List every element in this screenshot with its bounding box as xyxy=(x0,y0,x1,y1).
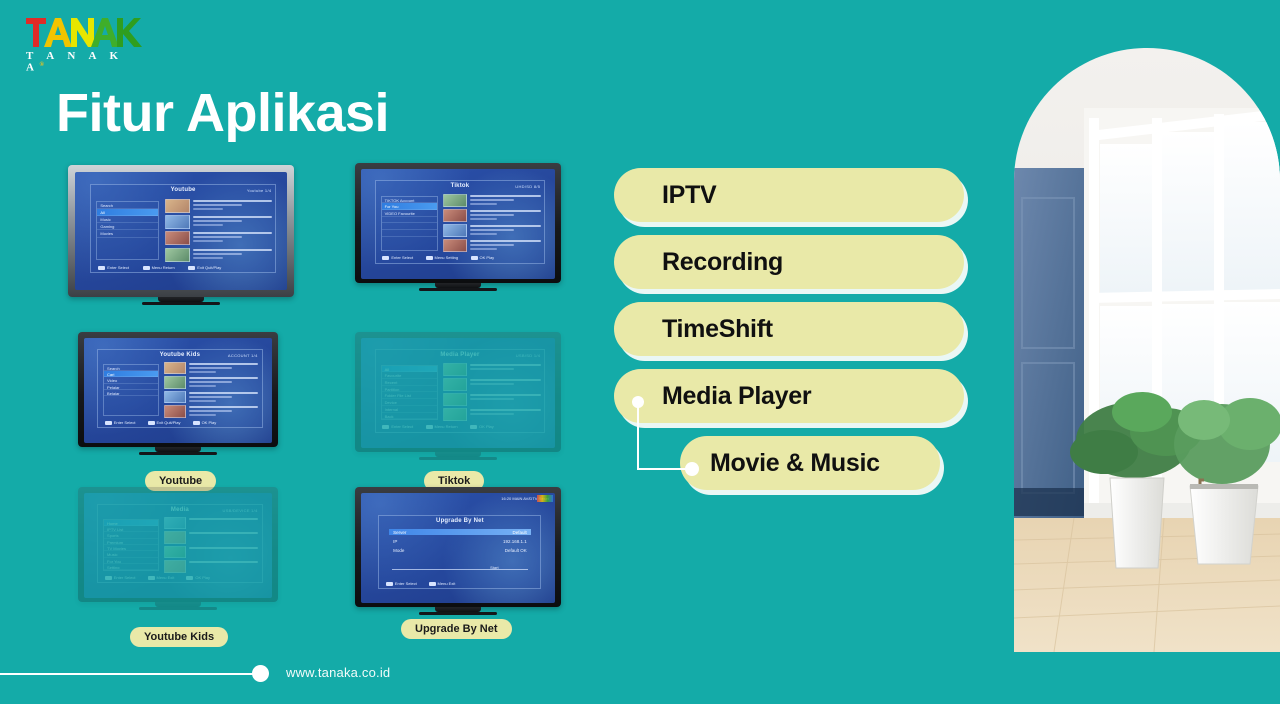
tv-ui-list-item xyxy=(443,224,541,237)
feature-pill-timeshift[interactable]: TimeShift xyxy=(614,302,964,356)
tv-ui-row-label: IP xyxy=(393,539,397,544)
tv-ui-footer-hint: Menu Exit xyxy=(438,581,456,586)
tv-ui-list-item xyxy=(443,209,541,222)
tv-ui-list-item xyxy=(443,363,541,376)
tv-ui-row: Mode Default OK xyxy=(389,548,531,554)
tv-ui-sidebar: TIKTOK Account For You VIDEO Favourite xyxy=(381,196,438,252)
tanaka-logo-icon xyxy=(24,14,142,50)
registered-mark-icon: ® xyxy=(39,62,43,68)
channel-logo-icon xyxy=(537,495,553,502)
screenshot-card-media-player[interactable]: Media Player USB/SD 1/4 All Favourite Re… xyxy=(355,332,561,460)
tv-ui-list-item xyxy=(165,231,272,245)
tv-ui-status: UHD/SD 8/5 xyxy=(515,184,540,189)
tv-ui-status: ACCOUNT 1/4 xyxy=(228,353,258,358)
tv-ui-sidebar-item: TIKTOK Account xyxy=(382,197,437,204)
thumbnail-icon xyxy=(443,194,466,207)
tv-ui-footer: Enter Select Menu Setting OK Play xyxy=(382,255,537,260)
thumbnail-icon xyxy=(443,408,466,421)
tv-ui-sidebar-item: Favourite xyxy=(382,372,437,379)
tv-ui-panel: Youtube Youtube 1/4 Search All Music Gam… xyxy=(90,184,277,274)
tv-ui-title: Upgrade By Net xyxy=(379,518,540,524)
thumbnail-icon xyxy=(443,393,466,406)
thumbnail-icon xyxy=(164,546,187,559)
screenshot-card-youtube-kids[interactable]: Youtube Kids ACCOUNT 1/4 Search Cari Vid… xyxy=(78,332,278,455)
tv-frame: Youtube Kids ACCOUNT 1/4 Search Cari Vid… xyxy=(78,332,278,447)
tv-ui-sidebar-item: Movies xyxy=(97,230,158,237)
tv-ui-sidebar-item: Partition xyxy=(382,386,437,393)
tv-ui-sidebar-item: Internal xyxy=(382,406,437,413)
feature-label: Recording xyxy=(662,248,783,277)
feature-label: IPTV xyxy=(662,181,716,210)
tv-ui-panel: Media Player USB/SD 1/4 All Favourite Re… xyxy=(375,349,546,433)
tv-ui-footer-hint: Menu Exit xyxy=(157,575,175,580)
thumbnail-icon xyxy=(165,248,191,262)
tv-ui-list-item xyxy=(164,531,259,544)
tv-ui-footer-hint: Enter Select xyxy=(391,424,413,429)
tv-ui-row-label: Server xyxy=(393,530,406,535)
tv-ui-sidebar: Search All Music Gaming Movies xyxy=(96,201,159,261)
screenshot-caption-upgrade-by-net: Upgrade By Net xyxy=(401,619,512,639)
tv-ui-footer-hint: Exit Quit/Play xyxy=(157,420,181,425)
feature-list: IPTV Recording TimeShift Media Player Mo… xyxy=(614,168,964,503)
page-title: Fitur Aplikasi xyxy=(56,84,389,143)
tv-ui-row-label: Mode xyxy=(393,548,404,553)
tv-ui-panel: Upgrade By Net Server Default IP 192.168… xyxy=(378,515,541,589)
tv-ui-footer-hint: Enter Select xyxy=(114,420,136,425)
footer-url: www.tanaka.co.id xyxy=(286,665,390,680)
tv-ui-list-item xyxy=(165,199,272,213)
tv-ui-sidebar-item: VIDEO Favourite xyxy=(382,210,437,217)
tv-stand-base xyxy=(142,302,220,305)
feature-label: Movie & Music xyxy=(710,449,880,478)
tv-ui-status: USB/DEVICE 1/4 xyxy=(223,508,258,513)
tv-ui-footer-hint: Menu Setting xyxy=(435,255,459,260)
thumbnail-icon xyxy=(164,362,187,375)
screenshot-card-media[interactable]: Media USB/DEVICE 1/4 Home IPTV List Spor… xyxy=(78,487,278,610)
tv-ui-list-item xyxy=(164,546,259,559)
tv-frame: Media Player USB/SD 1/4 All Favourite Re… xyxy=(355,332,561,452)
decorative-room-photo xyxy=(1014,48,1280,652)
tv-ui-footer-hint: Enter Select xyxy=(391,255,413,260)
tv-ui-list xyxy=(165,199,272,260)
feature-pill-recording[interactable]: Recording xyxy=(614,235,964,289)
thumbnail-icon xyxy=(164,376,187,389)
tv-ui-list-item xyxy=(164,362,259,375)
tv-ui-footer-hint: OK Play xyxy=(480,255,495,260)
tv-ui-list-item xyxy=(443,239,541,252)
tv-frame: 16:20 MAIN AV/DTV Reset Upgrade By Net S… xyxy=(355,487,561,607)
progress-bar xyxy=(392,569,527,570)
room-illustration xyxy=(1014,48,1280,652)
tv-stand-base xyxy=(139,607,217,610)
thumbnail-icon xyxy=(164,560,187,573)
tv-screen: Media Player USB/SD 1/4 All Favourite Re… xyxy=(361,338,555,448)
tv-ui-sidebar-item-selected: All xyxy=(97,209,158,216)
tv-frame: Youtube Youtube 1/4 Search All Music Gam… xyxy=(68,165,294,297)
thumbnail-icon xyxy=(164,517,187,530)
tv-ui-footer-hint: Menu Return xyxy=(435,424,458,429)
tv-ui-sidebar-item: Music xyxy=(97,216,158,223)
tv-ui-sidebar-item-selected: All xyxy=(382,366,437,373)
tv-ui-sidebar: Home IPTV List Sports Premium TV Movies … xyxy=(103,519,159,572)
tv-ui-list-item xyxy=(165,248,272,262)
thumbnail-icon xyxy=(443,363,466,376)
thumbnail-icon xyxy=(165,199,191,213)
tv-ui-list-item xyxy=(165,215,272,229)
feature-pill-iptv[interactable]: IPTV xyxy=(614,168,964,222)
feature-label: TimeShift xyxy=(662,315,773,344)
tv-ui-footer-hint: Exit Quit/Play xyxy=(197,265,221,270)
tv-ui-sidebar-item: Back xyxy=(382,413,437,420)
tv-ui-footer-hint: Menu Return xyxy=(152,265,175,270)
tv-ui-sidebar-item: Search xyxy=(97,202,158,209)
tv-screen: Youtube Kids ACCOUNT 1/4 Search Cari Vid… xyxy=(84,338,272,443)
tv-ui-sidebar-item: Device xyxy=(382,399,437,406)
brand-logo: T A N A K A® xyxy=(24,14,144,70)
screenshot-grid: Youtube Youtube 1/4 Search All Music Gam… xyxy=(0,165,600,645)
tv-ui-list xyxy=(164,362,259,416)
thumbnail-icon xyxy=(443,378,466,391)
tv-ui-footer: Enter Select Menu Exit xyxy=(386,581,534,586)
thumbnail-icon xyxy=(443,239,466,252)
tv-ui-list-item xyxy=(164,391,259,404)
thumbnail-icon xyxy=(443,224,466,237)
tv-ui-list-item xyxy=(443,393,541,406)
thumbnail-icon xyxy=(164,531,187,544)
tv-stand-base xyxy=(139,452,217,455)
feature-label: Media Player xyxy=(662,382,811,411)
tv-stand-base xyxy=(419,612,497,615)
tv-ui-footer: Enter Select Menu Exit OK Play xyxy=(105,575,255,580)
tv-ui-footer-hint: OK Play xyxy=(195,575,210,580)
tv-ui-sidebar-item: Folder File List xyxy=(382,392,437,399)
tv-ui-list-item xyxy=(164,376,259,389)
tv-ui-list-item xyxy=(443,194,541,207)
screenshot-card-youtube[interactable]: Youtube Youtube 1/4 Search All Music Gam… xyxy=(68,165,294,305)
tv-ui-footer: Enter Select Menu Return OK Play xyxy=(382,424,537,429)
feature-pill-media-player[interactable]: Media Player xyxy=(614,369,964,423)
tv-ui-row-value: Default OK xyxy=(505,548,527,553)
tv-ui-sidebar-item: Belajar xyxy=(104,390,158,396)
tv-ui-sidebar-item: Recent xyxy=(382,379,437,386)
tv-ui-sidebar-item: Setting xyxy=(104,564,158,570)
tv-ui-list xyxy=(164,517,259,571)
tv-ui-row-value: Default xyxy=(513,530,527,535)
screenshot-caption-youtube-kids: Youtube Kids xyxy=(130,627,228,647)
screenshot-card-tiktok[interactable]: Tiktok UHD/SD 8/5 TIKTOK Account For You… xyxy=(355,163,561,291)
tv-frame: Media USB/DEVICE 1/4 Home IPTV List Spor… xyxy=(78,487,278,602)
tv-ui-list-item xyxy=(164,517,259,530)
tv-ui-footer: Enter Select Menu Return Exit Quit/Play xyxy=(98,265,268,270)
footer-dot-icon xyxy=(252,665,269,682)
tv-screen: 16:20 MAIN AV/DTV Reset Upgrade By Net S… xyxy=(361,493,555,603)
tv-ui-row-value: 192.168.1.1 xyxy=(503,539,527,544)
tv-ui-footer-hint: Enter Select xyxy=(114,575,136,580)
footer-divider xyxy=(0,673,258,675)
tv-ui-sidebar: Search Cari Video Pelajar Belajar xyxy=(103,364,159,417)
tv-ui-list xyxy=(443,363,541,420)
tv-ui-footer-hint: Enter Select xyxy=(107,265,129,270)
tv-screen: Youtube Youtube 1/4 Search All Music Gam… xyxy=(75,172,287,290)
tv-stand-base xyxy=(419,288,497,291)
tv-ui-sidebar-item-selected: For You xyxy=(382,203,437,210)
tv-ui-footer-hint: Enter Select xyxy=(395,581,417,586)
tv-ui-panel: Media USB/DEVICE 1/4 Home IPTV List Spor… xyxy=(97,504,262,584)
tv-ui-list-item xyxy=(443,408,541,421)
tv-ui-row: IP 192.168.1.1 xyxy=(389,538,531,544)
tv-ui-footer-hint: OK Play xyxy=(202,420,217,425)
tv-ui-list-item xyxy=(164,405,259,418)
thumbnail-icon xyxy=(165,215,191,229)
tv-ui-panel: Tiktok UHD/SD 8/5 TIKTOK Account For You… xyxy=(375,180,546,264)
tv-ui-row-selected: Server Default xyxy=(389,529,531,535)
screenshot-card-upgrade-by-net[interactable]: 16:20 MAIN AV/DTV Reset Upgrade By Net S… xyxy=(355,487,561,615)
tv-screen: Tiktok UHD/SD 8/5 TIKTOK Account For You… xyxy=(361,169,555,279)
tv-ui-sidebar: All Favourite Recent Partition Folder Fi… xyxy=(381,365,438,421)
tv-ui-status: USB/SD 1/4 xyxy=(516,353,541,358)
tv-ui-footer-hint: OK Play xyxy=(479,424,494,429)
tv-ui-footer: Enter Select Exit Quit/Play OK Play xyxy=(105,420,255,425)
thumbnail-icon xyxy=(164,391,187,404)
tv-ui-sidebar-item: Gaming xyxy=(97,223,158,230)
tv-screen: Media USB/DEVICE 1/4 Home IPTV List Spor… xyxy=(84,493,272,598)
tv-ui-list-item xyxy=(443,378,541,391)
thumbnail-icon xyxy=(443,209,466,222)
progress-label: Start xyxy=(490,565,498,570)
logo-wordmark: T A N A K A® xyxy=(24,51,144,74)
tv-frame: Tiktok UHD/SD 8/5 TIKTOK Account For You… xyxy=(355,163,561,283)
tv-ui-panel: Youtube Kids ACCOUNT 1/4 Search Cari Vid… xyxy=(97,349,262,429)
thumbnail-icon xyxy=(165,231,191,245)
tv-stand-base xyxy=(419,457,497,460)
feature-pill-movie-and-music[interactable]: Movie & Music xyxy=(680,436,940,490)
tv-ui-status: Youtube 1/4 xyxy=(247,188,272,193)
thumbnail-icon xyxy=(164,405,187,418)
tv-ui-list-item xyxy=(164,560,259,573)
tv-ui-list xyxy=(443,194,541,251)
